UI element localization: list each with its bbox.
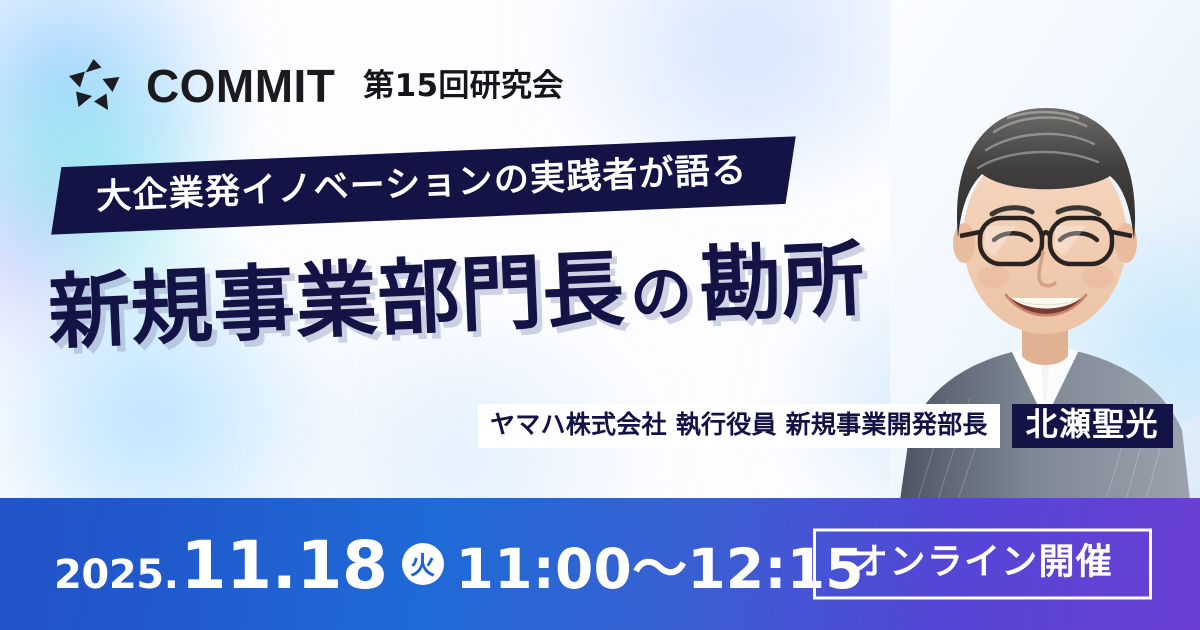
commit-pinwheel-star-icon (66, 58, 124, 114)
event-banner: COMMIT 第15回研究会 大企業発イノベーションの実践者が語る 新規事業部門… (0, 0, 1200, 630)
event-weekday-badge: 火 (402, 543, 444, 585)
event-date: 11.18 (181, 527, 388, 604)
speaker-affiliation: ヤマハ株式会社 執行役員 新規事業開発部長 (478, 404, 1000, 448)
edition-label: 第15回研究会 (363, 71, 563, 102)
event-time: 11:00〜12:15 (456, 524, 864, 604)
main-title-part1: 新規事業部門長 (47, 249, 627, 355)
header: COMMIT 第15回研究会 (66, 58, 564, 114)
online-format-badge: オンライン開催 (813, 529, 1152, 600)
speaker-info: ヤマハ株式会社 執行役員 新規事業開発部長 北瀬聖光 (478, 404, 1173, 448)
event-datetime: 2025. 11.18 火 11:00〜12:15 (54, 524, 864, 604)
subtitle-text: 大企業発イノベーションの実践者が語る (96, 151, 748, 217)
speaker-name: 北瀬聖光 (1012, 404, 1173, 448)
main-title-particle: の (623, 262, 700, 327)
footer-bar: 2025. 11.18 火 11:00〜12:15 オンライン開催 (0, 498, 1200, 630)
event-year: 2025. (54, 552, 179, 598)
main-title-part2: 勘所 (698, 239, 866, 328)
commit-logo-wordmark: COMMIT (146, 63, 335, 109)
